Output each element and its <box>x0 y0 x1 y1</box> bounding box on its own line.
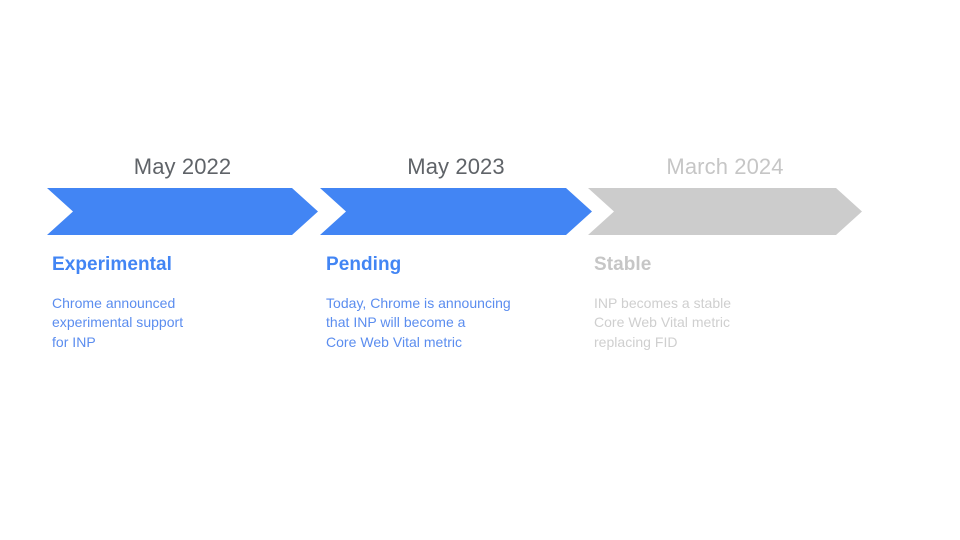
stage-chevron-3 <box>588 188 862 235</box>
stage-date-label-3: March 2024 <box>588 152 862 182</box>
stage-status-label-1: Experimental <box>52 252 314 278</box>
stage-description-line: Core Web Vital metric <box>326 333 590 352</box>
stage-text-block-1: Experimental Chrome announced experiment… <box>52 252 314 352</box>
stage-date-label-1: May 2022 <box>47 152 318 182</box>
stage-description-line: Today, Chrome is announcing <box>326 294 590 313</box>
stage-text-block-2: Pending Today, Chrome is announcing that… <box>326 252 590 352</box>
stage-chevron-1 <box>47 188 318 235</box>
stage-description-line: replacing FID <box>594 333 860 352</box>
stage-description-line: experimental support <box>52 313 314 332</box>
stage-description-line: Chrome announced <box>52 294 314 313</box>
stage-date-label-2: May 2023 <box>320 152 592 182</box>
stage-chevron-2 <box>320 188 592 235</box>
stage-text-block-3: Stable INP becomes a stable Core Web Vit… <box>594 252 860 352</box>
stage-description-3: INP becomes a stable Core Web Vital metr… <box>594 294 860 352</box>
stage-description-1: Chrome announced experimental support fo… <box>52 294 314 352</box>
stage-description-line: INP becomes a stable <box>594 294 860 313</box>
inp-timeline-chart: May 2022 Experimental Chrome announced e… <box>0 0 960 540</box>
stage-description-2: Today, Chrome is announcing that INP wil… <box>326 294 590 352</box>
stage-status-label-3: Stable <box>594 252 860 278</box>
stage-description-line: Core Web Vital metric <box>594 313 860 332</box>
stage-description-line: that INP will become a <box>326 313 590 332</box>
stage-status-label-2: Pending <box>326 252 590 278</box>
stage-description-line: for INP <box>52 333 314 352</box>
